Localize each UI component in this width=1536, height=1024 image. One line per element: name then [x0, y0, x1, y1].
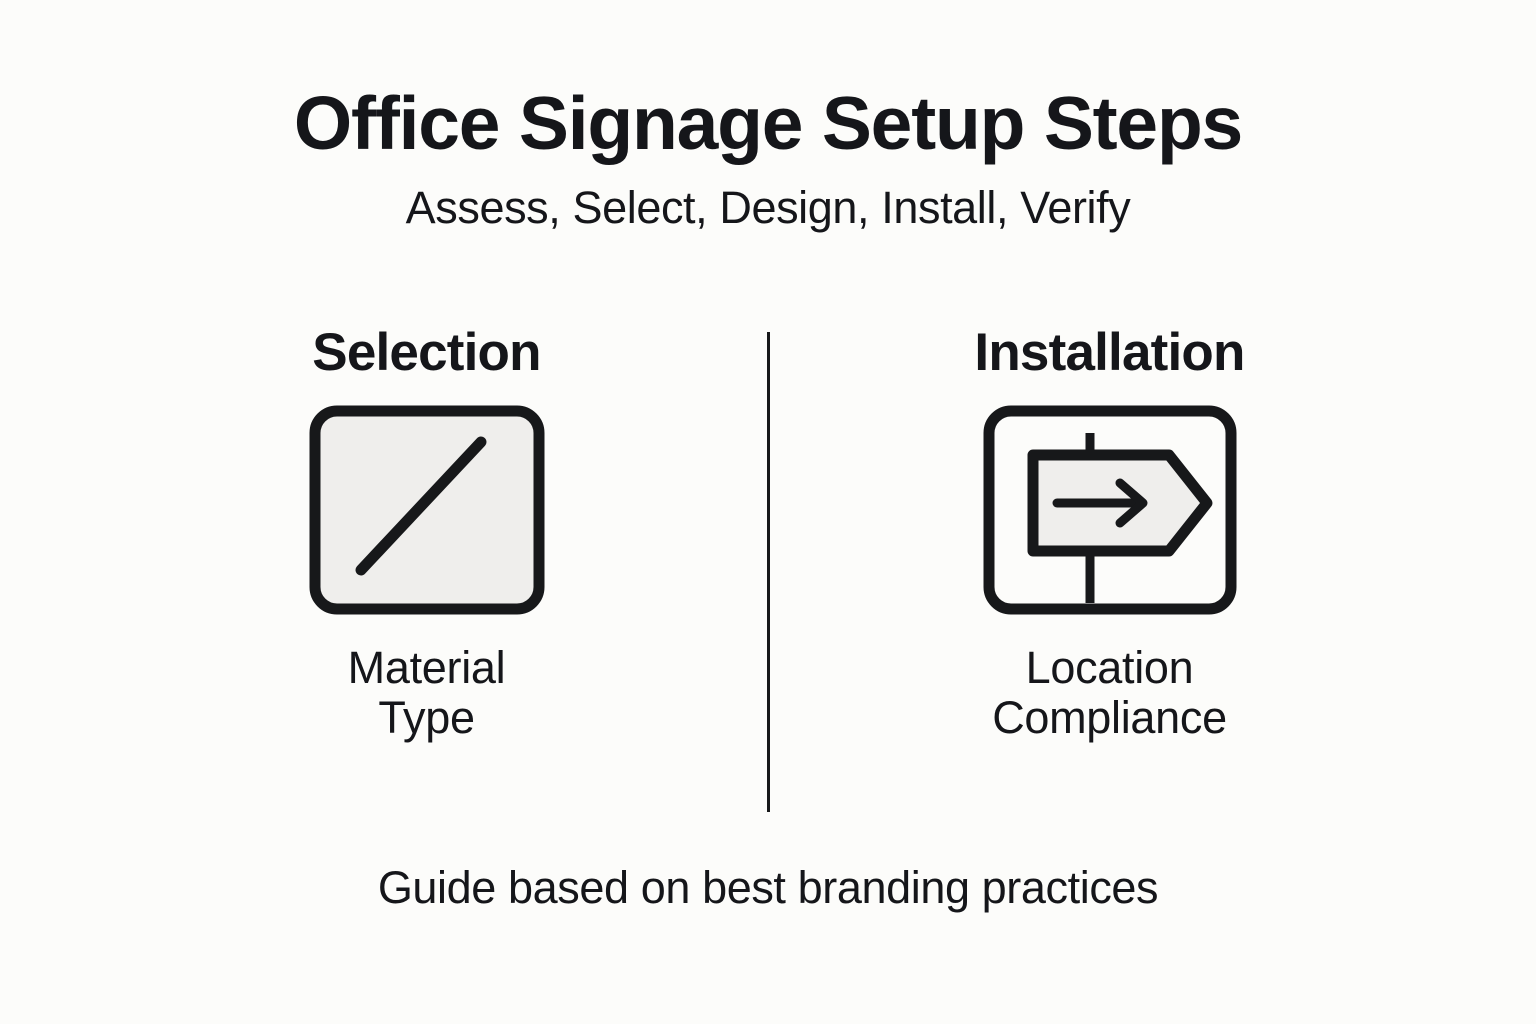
directional-signpost-icon	[983, 405, 1237, 620]
page-title: Office Signage Setup Steps	[0, 84, 1536, 162]
poster-header: Office Signage Setup Steps Assess, Selec…	[0, 84, 1536, 231]
column-heading-selection: Selection	[312, 326, 540, 379]
column-installation: Installation	[918, 326, 1302, 744]
column-label-installation: Location Compliance	[992, 643, 1227, 744]
column-heading-installation: Installation	[974, 326, 1244, 379]
column-label-selection: Material Type	[348, 643, 506, 744]
icon-container-selection	[309, 407, 545, 617]
icon-container-installation	[983, 407, 1237, 617]
comparison-columns: Selection Material Type Installation	[0, 326, 1536, 826]
column-selection: Selection Material Type	[235, 326, 619, 744]
material-swatch-icon	[309, 405, 545, 620]
column-divider	[767, 332, 770, 812]
page-subtitle: Assess, Select, Design, Install, Verify	[0, 184, 1536, 231]
footer-note: Guide based on best branding practices	[0, 862, 1536, 914]
signage-setup-poster: Office Signage Setup Steps Assess, Selec…	[0, 0, 1536, 1024]
